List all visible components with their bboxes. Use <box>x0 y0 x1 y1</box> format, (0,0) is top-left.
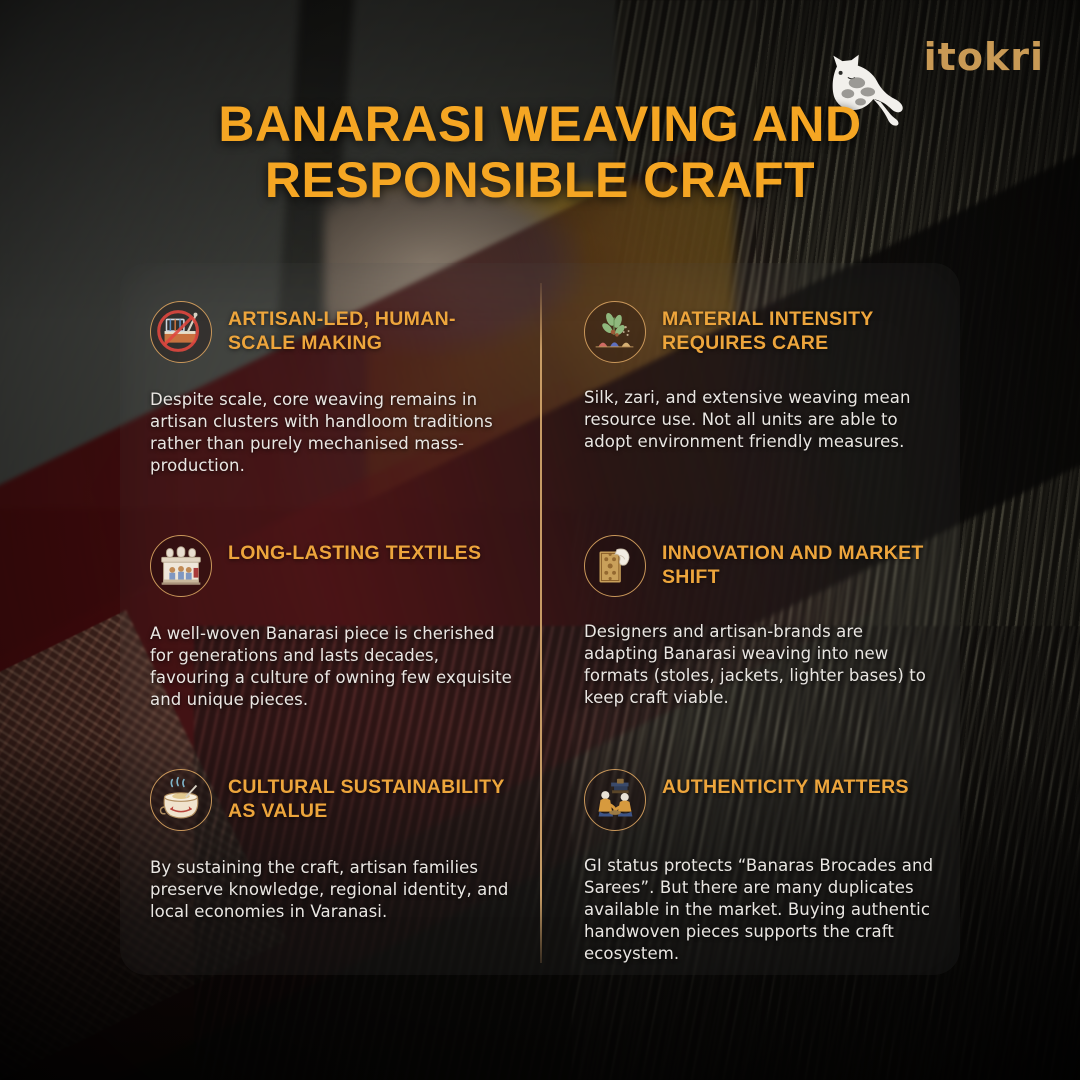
card-authenticity-matters: AUTHENTICITY MATTERS GI status protects … <box>540 731 960 975</box>
card-title: CULTURAL SUSTAINABILITY AS VALUE <box>228 769 514 824</box>
card-long-lasting-textiles: LONG-LASTING TEXTILES A well-woven Banar… <box>120 497 540 731</box>
card-header: INNOVATION AND MARKET SHIFT <box>584 535 940 597</box>
card-artisan-led: ARTISAN-LED, HUMAN-SCALE MAKING Despite … <box>120 263 540 497</box>
card-title: ARTISAN-LED, HUMAN-SCALE MAKING <box>228 301 514 356</box>
card-header: LONG-LASTING TEXTILES <box>150 535 514 597</box>
card-title: INNOVATION AND MARKET SHIFT <box>662 535 940 590</box>
card-material-intensity: MATERIAL INTENSITY REQUIRES CARE Silk, z… <box>540 263 960 497</box>
brand-logo[interactable]: itokri <box>924 38 1044 76</box>
card-title: MATERIAL INTENSITY REQUIRES CARE <box>662 301 940 356</box>
header: itokri BANARASI WEAVING AND RESPONSIBLE … <box>0 0 1080 255</box>
two-artisans-icon <box>584 769 646 831</box>
card-title: AUTHENTICITY MATTERS <box>662 769 909 800</box>
card-header: MATERIAL INTENSITY REQUIRES CARE <box>584 301 940 363</box>
page-title-line-2: RESPONSIBLE CRAFT <box>90 152 990 208</box>
card-cultural-sustainability: CULTURAL SUSTAINABILITY AS VALUE By sust… <box>120 731 540 975</box>
card-header: AUTHENTICITY MATTERS <box>584 769 940 831</box>
page-title: BANARASI WEAVING AND RESPONSIBLE CRAFT <box>0 96 1080 208</box>
card-title: LONG-LASTING TEXTILES <box>228 535 481 566</box>
card-body: Despite scale, core weaving remains in a… <box>150 389 514 477</box>
hand-holding-fabric-icon <box>584 535 646 597</box>
natural-dye-leaves-icon <box>584 301 646 363</box>
card-body: Designers and artisan-brands are adaptin… <box>584 621 940 709</box>
cards-grid: ARTISAN-LED, HUMAN-SCALE MAKING Despite … <box>120 263 960 975</box>
card-header: CULTURAL SUSTAINABILITY AS VALUE <box>150 769 514 831</box>
no-machine-production-icon <box>150 301 212 363</box>
craft-shop-icon <box>150 535 212 597</box>
card-body: Silk, zari, and extensive weaving mean r… <box>584 387 940 453</box>
card-body: By sustaining the craft, artisan familie… <box>150 857 514 923</box>
card-header: ARTISAN-LED, HUMAN-SCALE MAKING <box>150 301 514 363</box>
content-panel: ARTISAN-LED, HUMAN-SCALE MAKING Despite … <box>120 263 960 975</box>
card-body: A well-woven Banarasi piece is cherished… <box>150 623 514 711</box>
card-body: GI status protects “Banaras Brocades and… <box>584 855 940 965</box>
page-title-line-1: BANARASI WEAVING AND <box>90 96 990 152</box>
card-innovation-market-shift: INNOVATION AND MARKET SHIFT Designers an… <box>540 497 960 731</box>
dye-pot-icon <box>150 769 212 831</box>
